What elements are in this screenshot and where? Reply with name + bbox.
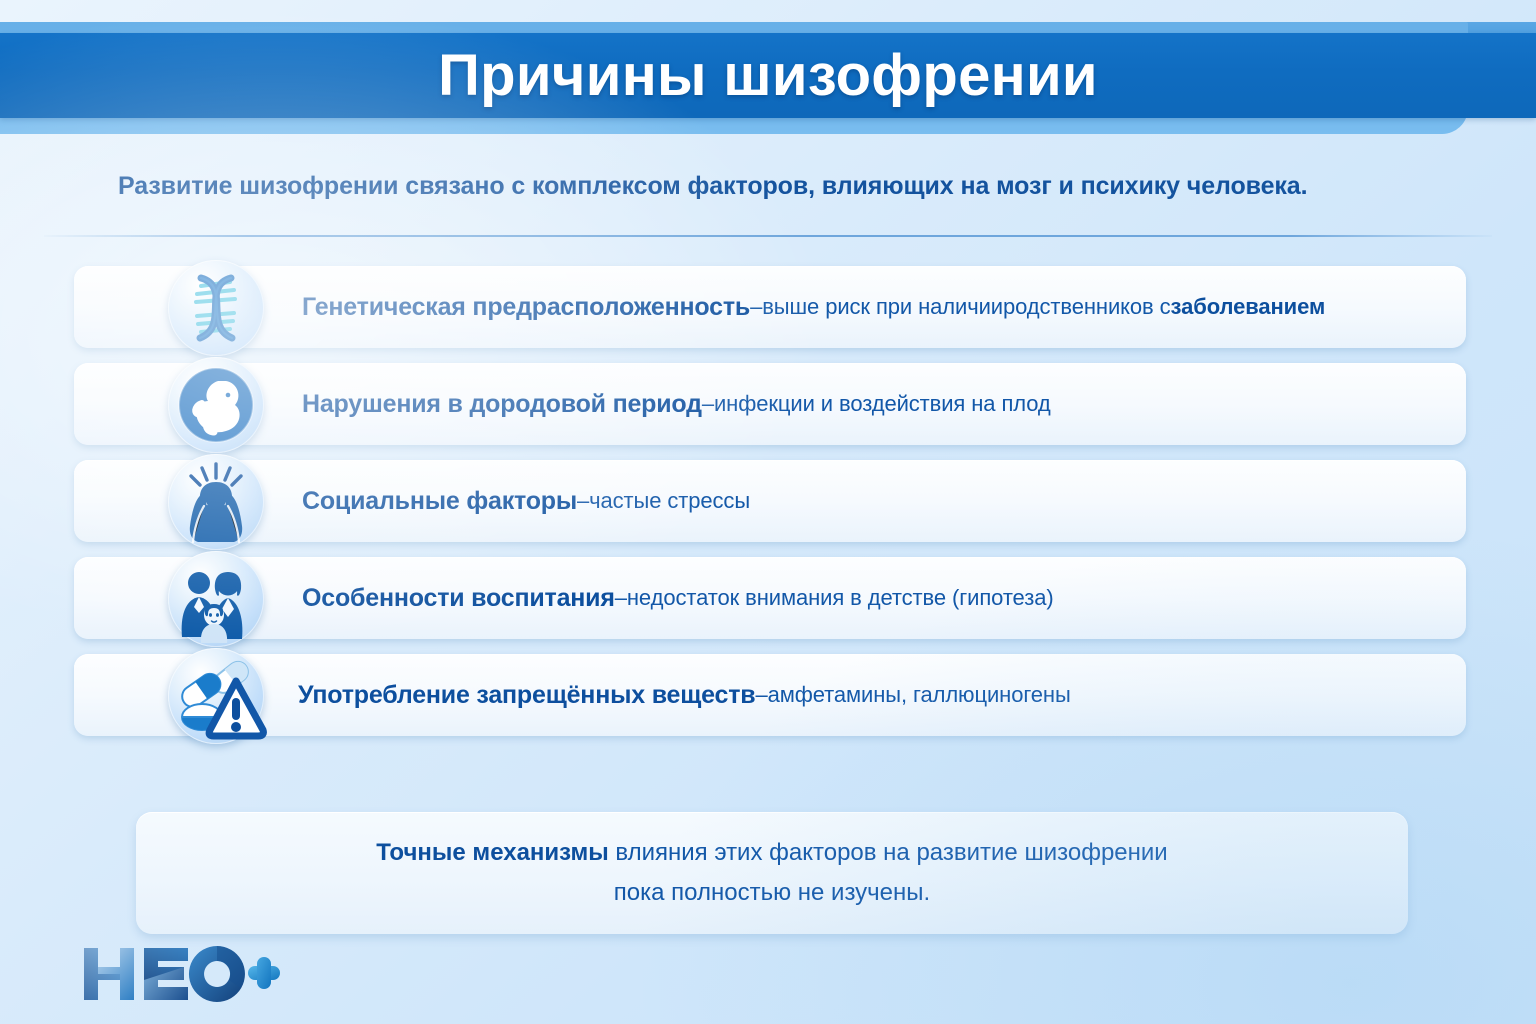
factor-title: Генетическая предрасположенность — [302, 293, 750, 322]
factor-text: Особенности воспитания – недостаток вним… — [302, 557, 1054, 639]
factor-dash: – — [615, 585, 627, 611]
factor-text: Генетическая предрасположенность – выше … — [302, 266, 1325, 348]
factor-text: Нарушения в дородовой период – инфекции … — [302, 363, 1051, 445]
list-item[interactable]: Особенности воспитания – недостаток вним… — [74, 557, 1466, 639]
factor-detail: инфекции и воздействия на плод — [714, 391, 1051, 417]
list-item[interactable]: Употребление запрещённых веществ – амфет… — [74, 654, 1466, 736]
stress-head-icon — [168, 454, 264, 550]
fetus-icon — [168, 357, 264, 453]
factor-detail: недостаток внимания в детстве (гипотеза) — [627, 585, 1054, 611]
conclusion-emphasis: Точные механизмы — [376, 839, 608, 866]
list-item[interactable]: Генетическая предрасположенность – выше … — [74, 266, 1466, 348]
factor-dash: – — [577, 488, 589, 514]
list-item[interactable]: Социальные факторы – частые стрессы — [74, 460, 1466, 542]
conclusion-line-1: Точные механизмы влияния этих факторов н… — [376, 839, 1167, 867]
factor-title: Социальные факторы — [302, 487, 577, 516]
conclusion-box: Точные механизмы влияния этих факторов н… — [136, 812, 1408, 934]
factor-dash: – — [702, 391, 714, 417]
factor-detail-highlight: заболеванием — [1171, 294, 1326, 319]
factor-detail-mid: родственников с — [1003, 294, 1171, 320]
conclusion-line-1-rest: влияния этих факторов на развитие шизофр… — [609, 839, 1168, 866]
pills-warning-icon — [168, 648, 264, 744]
factor-dash: – — [750, 294, 762, 320]
neo-plus-logo[interactable] — [82, 944, 282, 1006]
factor-card — [74, 460, 1466, 542]
factor-title: Особенности воспитания — [302, 584, 615, 613]
dna-icon — [168, 260, 264, 356]
family-icon — [168, 551, 264, 647]
factor-text: Употребление запрещённых веществ – амфет… — [298, 654, 1071, 736]
factor-detail-before: выше риск при наличии — [762, 294, 1003, 320]
infographic-poster: Причины шизофрении Развитие шизофрении с… — [0, 0, 1536, 1024]
factor-text: Социальные факторы – частые стрессы — [302, 460, 750, 542]
factor-title: Нарушения в дородовой период — [302, 390, 702, 419]
factor-detail: частые стрессы — [589, 488, 750, 514]
factor-detail: амфетамины, галлюциногены — [768, 682, 1071, 708]
conclusion-line-2: пока полностью не изучены. — [614, 879, 930, 907]
list-item[interactable]: Нарушения в дородовой период – инфекции … — [74, 363, 1466, 445]
factor-dash: – — [755, 682, 767, 708]
factor-title: Употребление запрещённых веществ — [298, 681, 755, 710]
